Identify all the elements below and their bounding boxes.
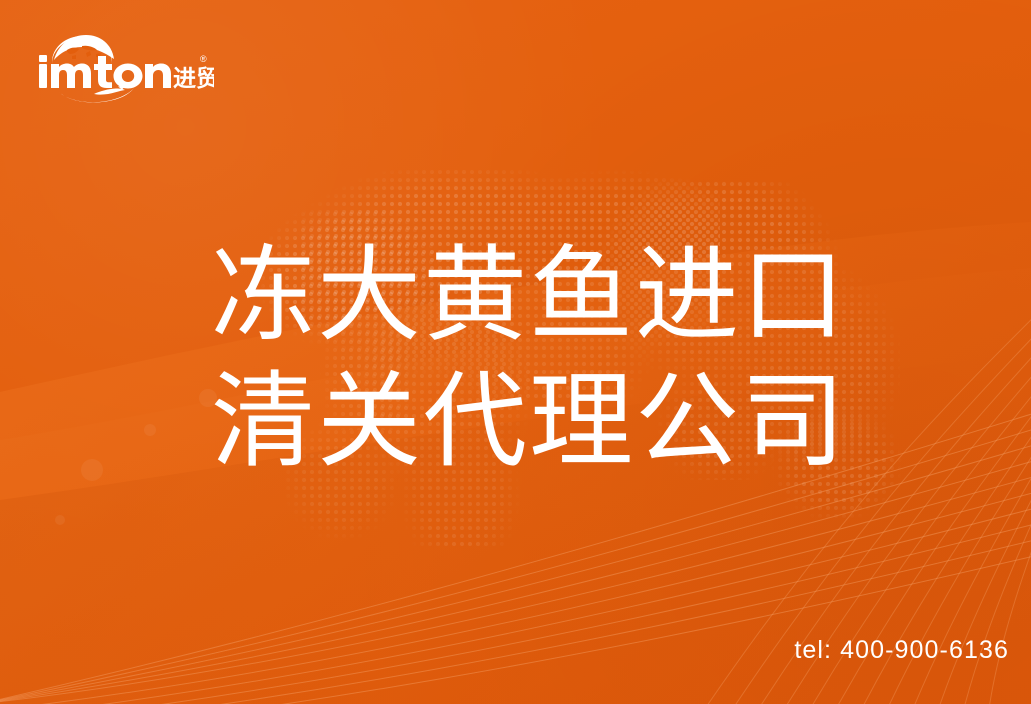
poster-canvas: 进贸通 ® 冻大黄鱼进口 清关代理公司 tel: 400-900-6136: [0, 0, 1031, 704]
page-title-line-2: 清关代理公司: [211, 358, 911, 484]
brand-logo[interactable]: 进贸通 ®: [34, 28, 214, 104]
contact-phone[interactable]: tel: 400-900-6136: [794, 636, 1009, 665]
page-title: 冻大黄鱼进口 清关代理公司: [211, 232, 911, 484]
swoosh-bird-icon: [58, 86, 134, 103]
page-title-line-1: 冻大黄鱼进口: [211, 232, 911, 358]
logo-wordmark-latin: [39, 55, 171, 89]
logo-wordmark-chinese: 进贸通: [173, 66, 214, 92]
brand-logo-svg: 进贸通 ®: [34, 28, 214, 104]
logo-trademark-symbol: ®: [200, 54, 207, 64]
